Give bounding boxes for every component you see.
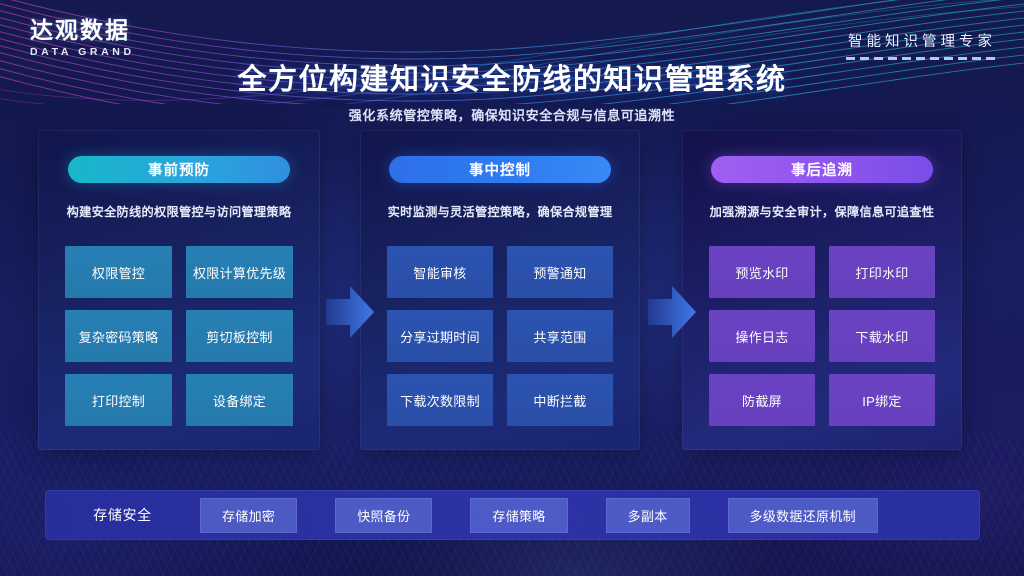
feature-card[interactable]: 权限计算优先级 bbox=[186, 246, 293, 298]
panel-pre-prevention: 事前预防 构建安全防线的权限管控与访问管理策略 权限管控 权限计算优先级 复杂密… bbox=[38, 130, 320, 450]
panel-post-traceability: 事后追溯 加强溯源与安全审计，保障信息可追查性 预览水印 打印水印 操作日志 下… bbox=[682, 130, 962, 450]
panel-in-process-control: 事中控制 实时监测与灵活管控策略，确保合规管理 智能审核 预警通知 分享过期时间… bbox=[360, 130, 640, 450]
panel-post-traceability-description: 加强溯源与安全审计，保障信息可追查性 bbox=[682, 202, 962, 220]
feature-card[interactable]: 下载水印 bbox=[829, 310, 935, 362]
slide-canvas: 达观数据 DATA GRAND 智能知识管理专家 全方位构建知识安全防线的知识管… bbox=[0, 0, 1024, 576]
feature-card[interactable]: 预览水印 bbox=[709, 246, 815, 298]
feature-card[interactable]: 剪切板控制 bbox=[186, 310, 293, 362]
feature-card[interactable]: 下载次数限制 bbox=[387, 374, 493, 426]
arrow-right-icon bbox=[326, 285, 374, 339]
storage-security-bar: 存储安全 存储加密 快照备份 存储策略 多副本 多级数据还原机制 bbox=[45, 490, 980, 540]
panels-row: 事前预防 构建安全防线的权限管控与访问管理策略 权限管控 权限计算优先级 复杂密… bbox=[0, 130, 1024, 452]
storage-chip[interactable]: 快照备份 bbox=[335, 498, 432, 533]
feature-card[interactable]: 复杂密码策略 bbox=[65, 310, 172, 362]
feature-card[interactable]: 权限管控 bbox=[65, 246, 172, 298]
feature-card[interactable]: 打印水印 bbox=[829, 246, 935, 298]
panel-in-process-control-title: 事中控制 bbox=[389, 156, 611, 183]
feature-card[interactable]: 智能审核 bbox=[387, 246, 493, 298]
page-title: 全方位构建知识安全防线的知识管理系统 bbox=[0, 56, 1024, 98]
storage-chip[interactable]: 存储加密 bbox=[200, 498, 297, 533]
panel-pre-prevention-card-grid: 权限管控 权限计算优先级 复杂密码策略 剪切板控制 打印控制 设备绑定 bbox=[65, 246, 293, 426]
panel-in-process-control-card-grid: 智能审核 预警通知 分享过期时间 共享范围 下载次数限制 中断拦截 bbox=[387, 246, 613, 426]
feature-card[interactable]: IP绑定 bbox=[829, 374, 935, 426]
feature-card[interactable]: 中断拦截 bbox=[507, 374, 613, 426]
feature-card[interactable]: 防截屏 bbox=[709, 374, 815, 426]
logo: 达观数据 DATA GRAND bbox=[30, 18, 135, 58]
panel-pre-prevention-description: 构建安全防线的权限管控与访问管理策略 bbox=[38, 202, 320, 220]
feature-card[interactable]: 分享过期时间 bbox=[387, 310, 493, 362]
storage-chip[interactable]: 存储策略 bbox=[470, 498, 567, 533]
panel-post-traceability-card-grid: 预览水印 打印水印 操作日志 下载水印 防截屏 IP绑定 bbox=[709, 246, 935, 426]
feature-card[interactable]: 预警通知 bbox=[507, 246, 613, 298]
page-subtitle: 强化系统管控策略，确保知识安全合规与信息可追溯性 bbox=[0, 105, 1024, 124]
storage-chip[interactable]: 多副本 bbox=[606, 498, 690, 533]
feature-card[interactable]: 操作日志 bbox=[709, 310, 815, 362]
arrow-right-icon bbox=[648, 285, 696, 339]
storage-security-chip-list: 存储加密 快照备份 存储策略 多副本 多级数据还原机制 bbox=[200, 498, 878, 533]
panel-pre-prevention-title: 事前预防 bbox=[68, 156, 290, 183]
panel-in-process-control-description: 实时监测与灵活管控策略，确保合规管理 bbox=[360, 202, 640, 220]
logo-chinese-name: 达观数据 bbox=[30, 18, 135, 42]
storage-security-label: 存储安全 bbox=[45, 505, 200, 525]
feature-card[interactable]: 打印控制 bbox=[65, 374, 172, 426]
feature-card[interactable]: 设备绑定 bbox=[186, 374, 293, 426]
panel-post-traceability-title: 事后追溯 bbox=[711, 156, 933, 183]
feature-card[interactable]: 共享范围 bbox=[507, 310, 613, 362]
storage-chip[interactable]: 多级数据还原机制 bbox=[728, 498, 878, 533]
tagline-text: 智能知识管理专家 bbox=[846, 30, 996, 51]
